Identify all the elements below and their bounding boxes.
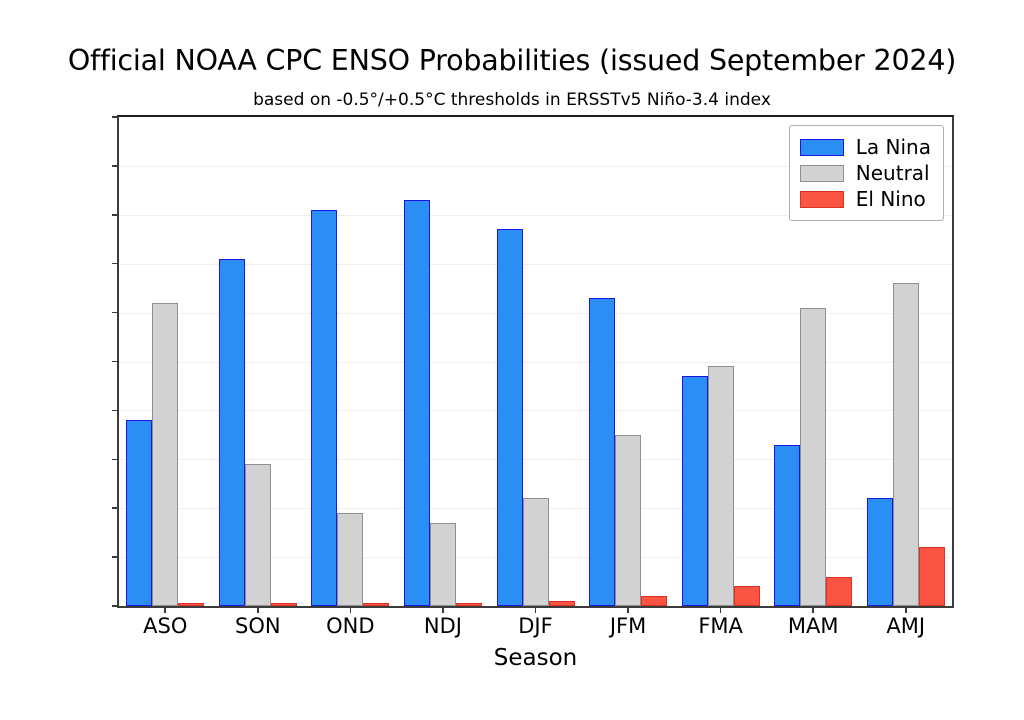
bar-fma-neutral xyxy=(708,366,734,606)
legend-swatch-lanina xyxy=(800,139,844,156)
y-axis-tick xyxy=(112,410,119,412)
legend-item: El Nino xyxy=(800,186,931,212)
x-axis-tick xyxy=(720,606,722,613)
bar-amj-lanina xyxy=(867,498,893,606)
x-axis-tick xyxy=(812,606,814,613)
bar-jfm-neutral xyxy=(615,435,641,606)
bar-aso-neutral xyxy=(152,303,178,606)
legend-label: La Nina xyxy=(856,135,931,159)
bar-djf-neutral xyxy=(523,498,549,606)
y-axis-tick xyxy=(112,556,119,558)
x-axis-tick-label-amj: AMJ xyxy=(846,614,966,638)
y-axis-tick xyxy=(112,312,119,314)
y-axis-tick xyxy=(112,459,119,461)
x-axis-label: Season xyxy=(117,645,954,671)
y-axis-tick xyxy=(112,165,119,167)
bar-ndj-elnino xyxy=(456,603,482,606)
chart-legend: La NinaNeutralEl Nino xyxy=(789,125,944,221)
chart-figure: Official NOAA CPC ENSO Probabilities (is… xyxy=(0,0,1024,720)
bar-ond-elnino xyxy=(363,603,389,606)
x-axis-tick xyxy=(905,606,907,613)
plot-frame: 0102030405060708090100 La NinaNeutralEl … xyxy=(117,115,954,608)
bar-ond-lanina xyxy=(311,210,337,606)
chart-title: Official NOAA CPC ENSO Probabilities (is… xyxy=(0,44,1024,77)
bar-aso-elnino xyxy=(178,603,204,606)
legend-label: El Nino xyxy=(856,187,926,211)
y-axis-tick xyxy=(112,214,119,216)
bar-amj-neutral xyxy=(893,283,919,606)
bar-fma-lanina xyxy=(682,376,708,606)
y-axis-tick xyxy=(112,263,119,265)
bar-son-lanina xyxy=(219,259,245,606)
x-axis-tick xyxy=(627,606,629,613)
bar-ond-neutral xyxy=(337,513,363,606)
bar-ndj-lanina xyxy=(404,200,430,606)
x-axis-tick xyxy=(535,606,537,613)
x-axis-tick xyxy=(164,606,166,613)
bar-jfm-lanina xyxy=(589,298,615,606)
bar-fma-elnino xyxy=(734,586,760,606)
bar-amj-elnino xyxy=(919,547,945,606)
bar-son-elnino xyxy=(271,603,297,606)
bar-mam-elnino xyxy=(826,577,852,606)
x-axis-tick xyxy=(257,606,259,613)
y-axis-tick xyxy=(112,605,119,607)
bar-mam-neutral xyxy=(800,308,826,606)
y-axis-tick xyxy=(112,116,119,118)
legend-item: Neutral xyxy=(800,160,931,186)
y-axis-tick xyxy=(112,361,119,363)
bar-son-neutral xyxy=(245,464,271,606)
x-axis-tick xyxy=(350,606,352,613)
bar-mam-lanina xyxy=(774,445,800,606)
legend-swatch-elnino xyxy=(800,191,844,208)
legend-item: La Nina xyxy=(800,134,931,160)
x-axis-tick xyxy=(442,606,444,613)
bar-ndj-neutral xyxy=(430,523,456,606)
bar-jfm-elnino xyxy=(641,596,667,606)
bar-djf-lanina xyxy=(497,229,523,606)
chart-subtitle: based on -0.5°/+0.5°C thresholds in ERSS… xyxy=(0,90,1024,110)
bar-djf-elnino xyxy=(549,601,575,606)
legend-swatch-neutral xyxy=(800,165,844,182)
legend-label: Neutral xyxy=(856,161,930,185)
bar-aso-lanina xyxy=(126,420,152,606)
y-axis-tick xyxy=(112,507,119,509)
